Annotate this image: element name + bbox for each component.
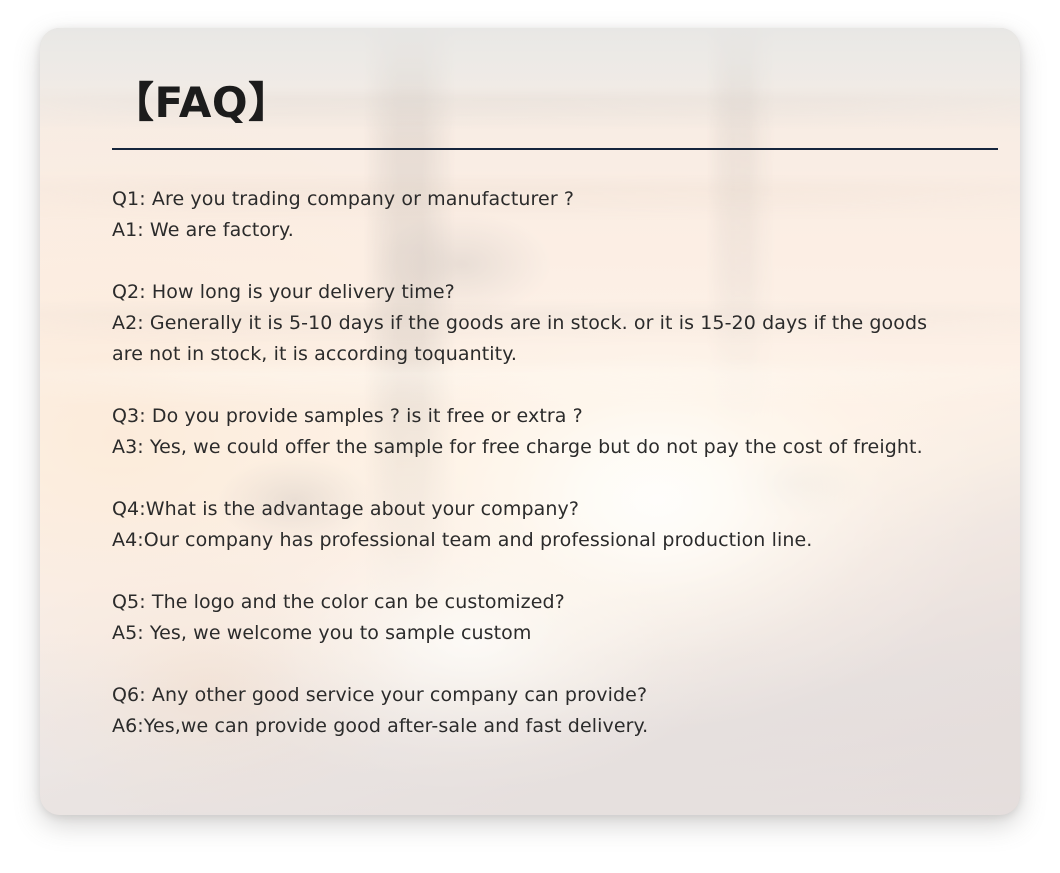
faq-answer: A3: Yes, we could offer the sample for f…	[112, 432, 960, 463]
faq-card: 【FAQ】 Q1: Are you trading company or man…	[40, 28, 1020, 815]
page-root: 【FAQ】 Q1: Are you trading company or man…	[0, 0, 1060, 873]
faq-question: Q1: Are you trading company or manufactu…	[112, 184, 960, 215]
faq-question: Q2: How long is your delivery time?	[112, 277, 960, 308]
faq-question: Q3: Do you provide samples ? is it free …	[112, 401, 960, 432]
faq-list: Q1: Are you trading company or manufactu…	[112, 184, 960, 742]
faq-item: Q2: How long is your delivery time? A2: …	[112, 277, 960, 370]
faq-question: Q6: Any other good service your company …	[112, 680, 960, 711]
faq-item: Q1: Are you trading company or manufactu…	[112, 184, 960, 246]
faq-item: Q5: The logo and the color can be custom…	[112, 587, 960, 649]
faq-question: Q5: The logo and the color can be custom…	[112, 587, 960, 618]
faq-answer: A6:Yes,we can provide good after-sale an…	[112, 711, 960, 742]
faq-content: 【FAQ】 Q1: Are you trading company or man…	[40, 28, 1020, 815]
faq-item: Q3: Do you provide samples ? is it free …	[112, 401, 960, 463]
faq-answer: A1: We are factory.	[112, 215, 960, 246]
faq-answer: A5: Yes, we welcome you to sample custom	[112, 618, 960, 649]
faq-answer: A2: Generally it is 5-10 days if the goo…	[112, 308, 960, 370]
title-divider	[112, 148, 998, 150]
faq-item: Q4:What is the advantage about your comp…	[112, 494, 960, 556]
page-title: 【FAQ】	[112, 82, 960, 124]
faq-answer: A4:Our company has professional team and…	[112, 525, 960, 556]
faq-item: Q6: Any other good service your company …	[112, 680, 960, 742]
faq-question: Q4:What is the advantage about your comp…	[112, 494, 960, 525]
